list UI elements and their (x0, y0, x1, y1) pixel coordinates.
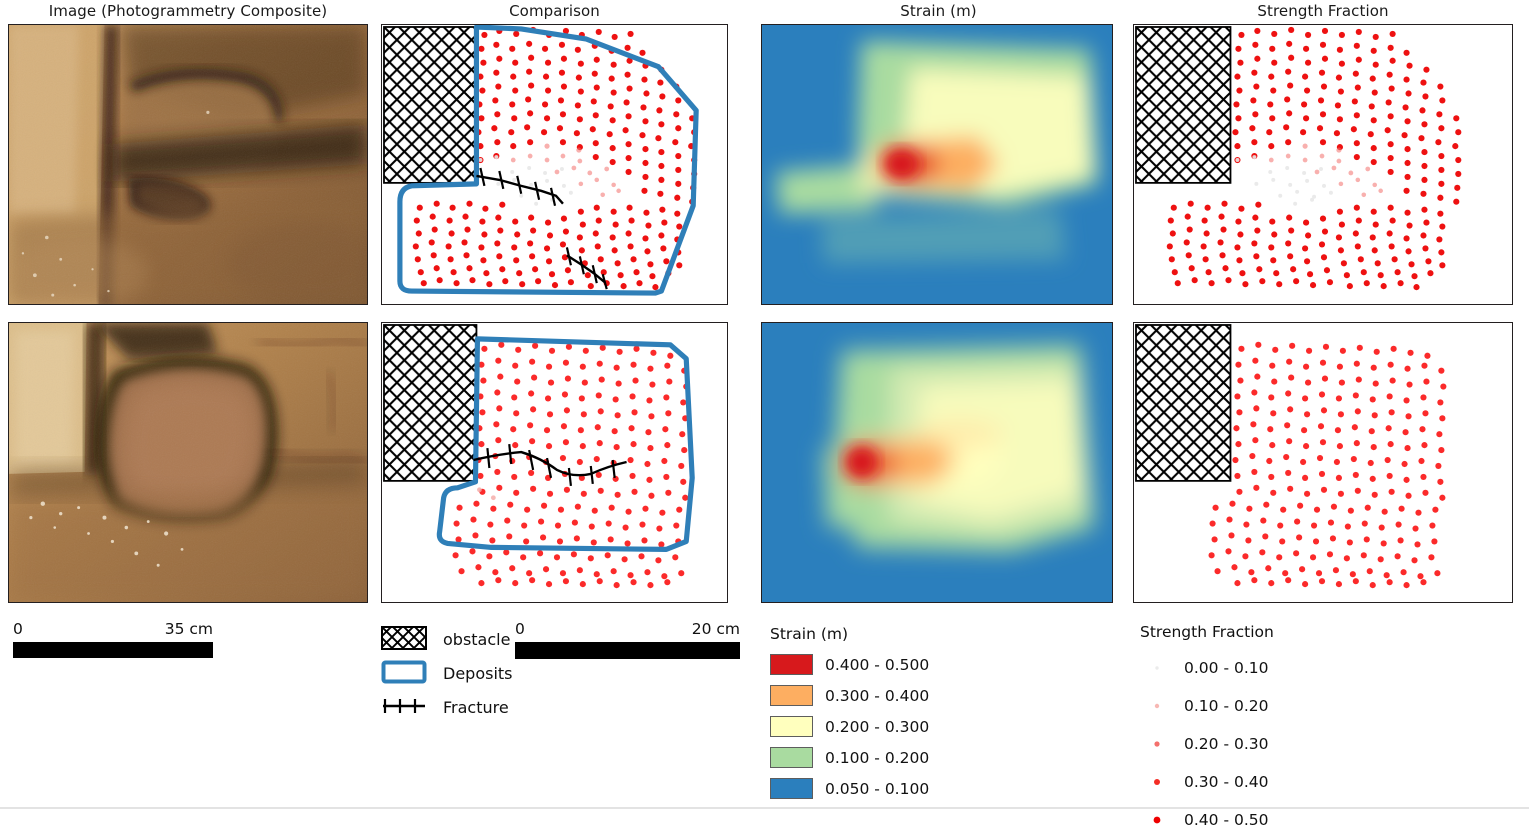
strain-label-3: 0.100 - 0.200 (825, 749, 929, 767)
strength-legend-title: Strength Fraction (1140, 623, 1420, 641)
legend-label-obstacle: obstacle (443, 630, 510, 649)
column-title-image: Image (Photogrammetry Composite) (8, 2, 368, 20)
strength-label-3: 0.30 - 0.40 (1184, 773, 1268, 791)
strain-swatch-3 (770, 747, 813, 768)
comparison-map-top (382, 25, 727, 304)
comparison-scalebar-bar (515, 642, 740, 659)
strain-swatch-0 (770, 654, 813, 675)
panel-image-top (8, 24, 368, 305)
legend-item-deposits: Deposits (381, 656, 581, 690)
obstacle-polygon-strength-top (1136, 27, 1231, 183)
strain-swatch-4 (770, 778, 813, 799)
figure-root: Image (Photogrammetry Composite) Compari… (0, 0, 1529, 809)
obstacle-polygon-top (384, 27, 476, 183)
image-scalebar-bar (13, 642, 213, 658)
strength-points-strength-bottom (1209, 342, 1447, 588)
strain-swatch-1 (770, 685, 813, 706)
image-scalebar-max: 35 cm (165, 620, 213, 638)
strain-legend-row: 0.100 - 0.200 (770, 742, 1010, 773)
comparison-scalebar: 0 20 cm (515, 620, 740, 659)
strength-dot-4 (1140, 810, 1174, 830)
strength-legend-row: 0.20 - 0.30 (1140, 725, 1420, 763)
comparison-scalebar-min: 0 (515, 620, 525, 638)
legend-label-deposits: Deposits (443, 664, 513, 683)
fracture-lines-top (476, 168, 606, 289)
strength-legend-row: 0.30 - 0.40 (1140, 763, 1420, 801)
strain-heatmap-top (762, 25, 1112, 304)
blue-outline-rect-icon (381, 660, 433, 686)
strain-label-1: 0.300 - 0.400 (825, 687, 929, 705)
obstacle-polygon-bottom (384, 325, 476, 481)
strength-label-4: 0.40 - 0.50 (1184, 811, 1268, 829)
panel-strain-bottom (761, 322, 1113, 603)
strength-legend-row: 0.00 - 0.10 (1140, 649, 1420, 687)
strength-dot-1 (1140, 696, 1174, 716)
strain-legend-row: 0.300 - 0.400 (770, 680, 1010, 711)
strain-label-2: 0.200 - 0.300 (825, 718, 929, 736)
panel-image-bottom (8, 322, 368, 603)
comparison-scalebar-max: 20 cm (692, 620, 740, 638)
strain-legend-row: 0.400 - 0.500 (770, 649, 1010, 680)
column-title-strength: Strength Fraction (1133, 2, 1513, 20)
photogrammetry-composite-top (9, 25, 367, 304)
strain-heatmap-bottom (762, 323, 1112, 602)
comparison-map-bottom (382, 323, 727, 602)
strain-label-0: 0.400 - 0.500 (825, 656, 929, 674)
panel-comparison-bottom (381, 322, 728, 603)
strength-dot-2 (1140, 734, 1174, 754)
image-scalebar-min: 0 (13, 620, 23, 638)
photogrammetry-composite-bottom (9, 323, 367, 602)
ticked-line-icon (381, 694, 433, 720)
strain-legend-title: Strain (m) (770, 625, 1010, 643)
strain-legend: Strain (m) 0.400 - 0.500 0.300 - 0.400 0… (770, 625, 1010, 804)
panel-comparison-top (381, 24, 728, 305)
legend-label-fracture: Fracture (443, 698, 509, 717)
obstacle-polygon-strength-bottom (1136, 325, 1231, 481)
column-title-comparison: Comparison (381, 2, 728, 20)
image-scalebar: 0 35 cm (13, 620, 213, 658)
strain-legend-row: 0.200 - 0.300 (770, 711, 1010, 742)
legend-item-fracture: Fracture (381, 690, 581, 724)
strain-legend-row: 0.050 - 0.100 (770, 773, 1010, 804)
strength-dot-3 (1140, 772, 1174, 792)
panel-strain-top (761, 24, 1113, 305)
strain-label-4: 0.050 - 0.100 (825, 780, 929, 798)
strength-legend-row: 0.10 - 0.20 (1140, 687, 1420, 725)
strength-label-0: 0.00 - 0.10 (1184, 659, 1268, 677)
strength-label-1: 0.10 - 0.20 (1184, 697, 1268, 715)
hatched-square-icon (381, 626, 433, 652)
strength-point-map-top (1134, 25, 1512, 304)
strength-label-2: 0.20 - 0.30 (1184, 735, 1268, 753)
strength-dot-0 (1140, 658, 1174, 678)
column-title-strain: Strain (m) (761, 2, 1116, 20)
strain-swatch-2 (770, 716, 813, 737)
strength-point-map-bottom (1134, 323, 1512, 602)
panel-strength-bottom (1133, 322, 1513, 603)
panel-strength-top (1133, 24, 1513, 305)
